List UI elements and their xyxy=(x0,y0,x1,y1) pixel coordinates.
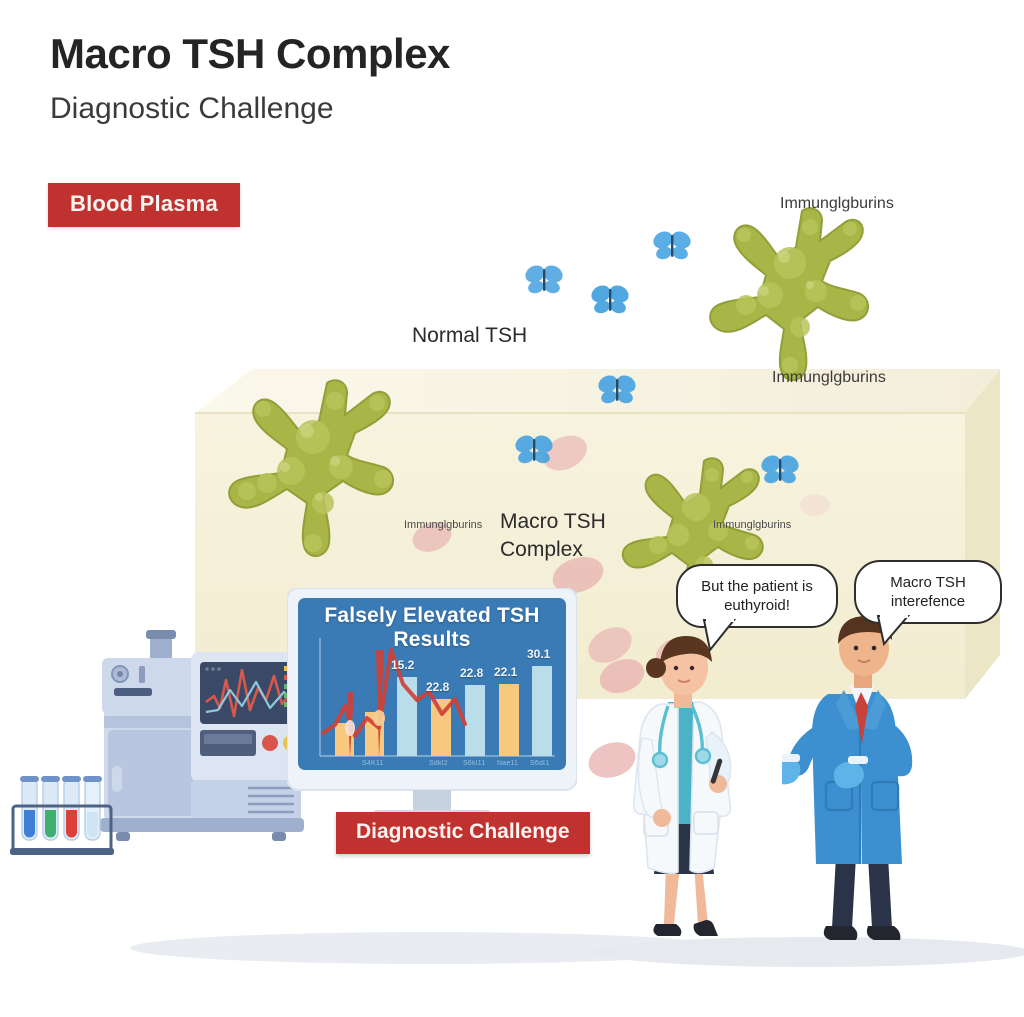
bar-value-label: 30.1 xyxy=(527,647,550,661)
label-immunoglobulins-top: Immunglgburins xyxy=(780,195,894,213)
label-macro-line2: Complex xyxy=(500,536,606,564)
label-immunoglobulins-small-right: Immunglgburins xyxy=(713,519,791,531)
bar-5 xyxy=(465,685,485,756)
tsh-butterfly-icon xyxy=(588,282,632,320)
label-macro-tsh-complex: Macro TSH Complex xyxy=(500,508,606,564)
bar-value-label: 22.1 xyxy=(494,665,517,679)
bar-value-label: 22.8 xyxy=(426,680,449,694)
speech-bubble-tail xyxy=(872,614,920,648)
antibody-icon xyxy=(690,205,890,395)
diagnostic-challenge-banner: Diagnostic Challenge xyxy=(336,812,590,854)
label-immunoglobulins-small-left: Immunglgburins xyxy=(404,519,482,531)
shoe-left xyxy=(824,926,858,940)
speech-bubble-tail xyxy=(700,618,748,654)
hair-bun xyxy=(646,658,666,678)
tsh-butterfly-icon xyxy=(595,372,639,410)
x-axis-tick: Nae11 xyxy=(497,760,518,767)
bar-value-label: 22.8 xyxy=(460,666,483,680)
illustration-canvas: Macro TSH Complex Diagnostic Challenge B… xyxy=(0,0,1024,1017)
tube-red xyxy=(62,776,81,840)
label-macro-line1: Macro TSH xyxy=(500,508,606,536)
monitor-icon: Falsely Elevated TSH Results 15.2 22.8 2… xyxy=(287,588,577,833)
female-doctor xyxy=(608,628,768,958)
bar-value-label: 15.2 xyxy=(391,658,414,672)
page-title: Macro TSH Complex xyxy=(50,32,450,76)
hand-left xyxy=(653,809,671,827)
tsh-butterfly-icon xyxy=(512,432,556,470)
bar-6 xyxy=(499,684,519,756)
label-immunoglobulins-mid: Immunglgburins xyxy=(772,369,886,387)
test-tubes xyxy=(20,776,102,840)
label-normal-tsh: Normal TSH xyxy=(412,324,527,348)
page-subtitle: Diagnostic Challenge xyxy=(50,92,334,126)
male-doctor xyxy=(782,612,952,960)
tsh-butterfly-icon xyxy=(650,228,694,266)
plasma-right-face xyxy=(965,369,1000,699)
tube-green xyxy=(41,776,60,840)
tsh-butterfly-icon xyxy=(522,262,566,300)
glove-left xyxy=(782,760,800,784)
chart-title: Falsely Elevated TSH Results xyxy=(287,604,577,652)
bar-7 xyxy=(532,666,552,756)
tube-clear xyxy=(83,776,102,840)
antibody-icon xyxy=(195,375,425,595)
x-axis-tick: S6kI11 xyxy=(463,760,485,767)
blood-plasma-badge: Blood Plasma xyxy=(48,183,240,227)
x-axis-tick: S6dI1 xyxy=(530,760,549,767)
trouser-left xyxy=(832,856,856,928)
trouser-right xyxy=(868,856,892,928)
hand-right xyxy=(709,775,727,793)
x-axis-tick: S4K11 xyxy=(362,760,384,767)
test-tube-rack-icon xyxy=(8,770,118,870)
tsh-butterfly-icon xyxy=(758,452,802,490)
tube-blue xyxy=(20,776,39,840)
shoe-right xyxy=(694,920,718,936)
shoe-right xyxy=(867,926,901,940)
shoe-left xyxy=(653,924,681,936)
x-axis-tick: SdkI2 xyxy=(429,760,448,767)
